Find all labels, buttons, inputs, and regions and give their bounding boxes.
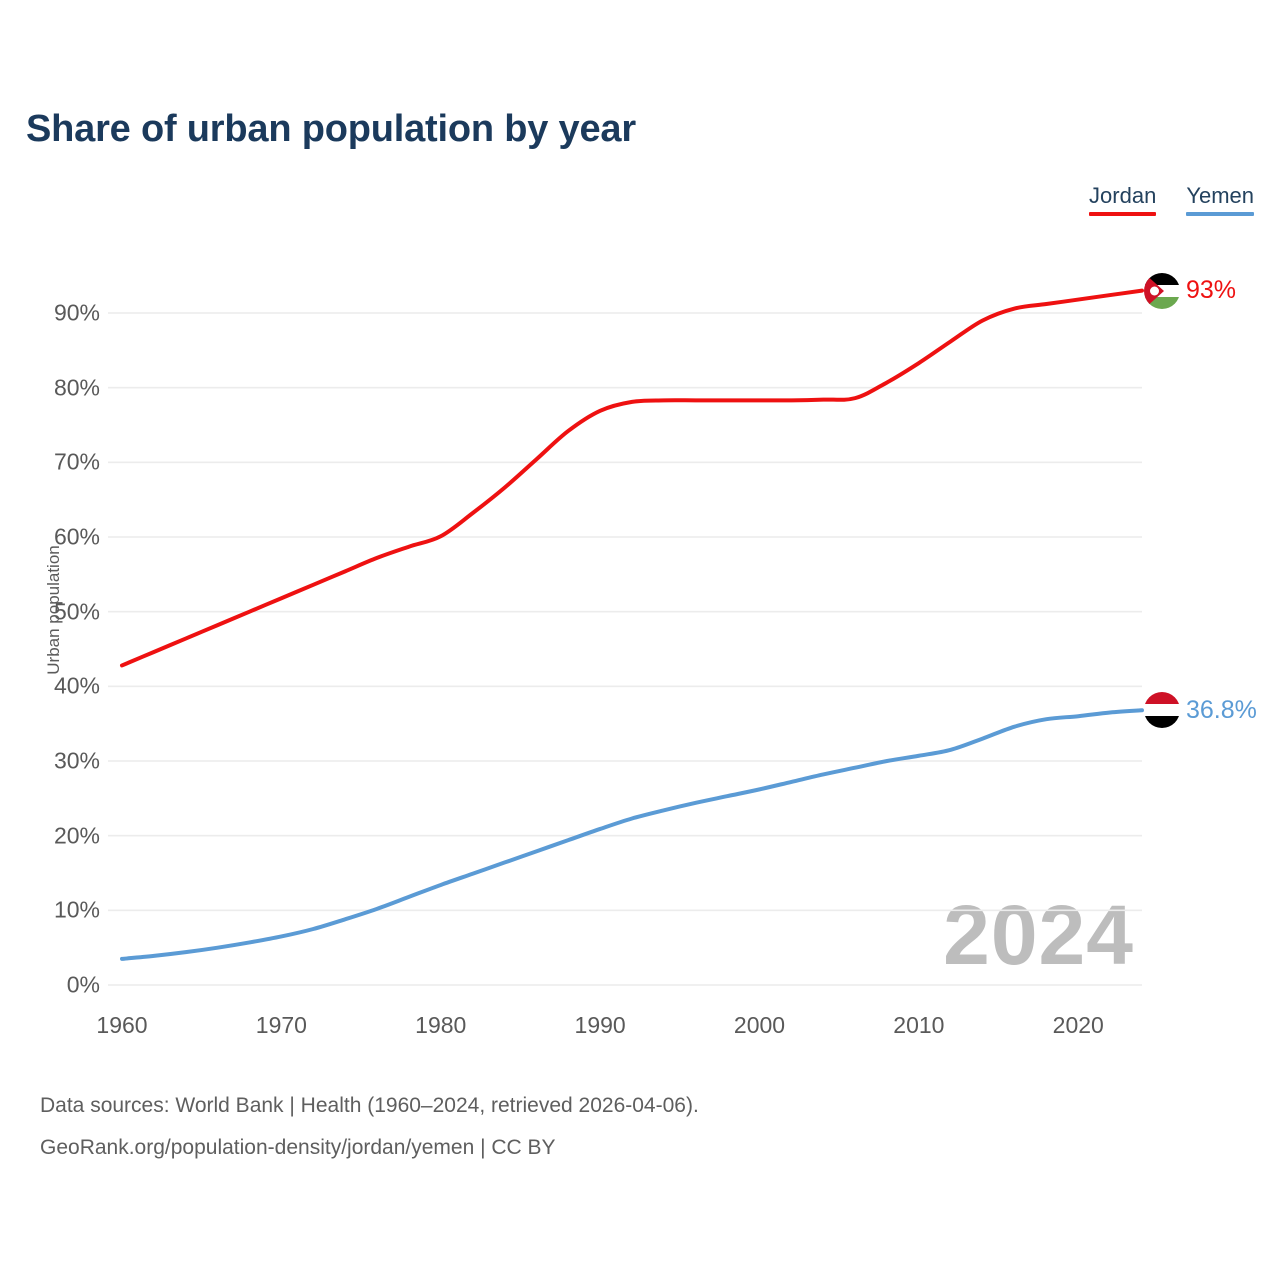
y-axis-tick-label: 30% bbox=[0, 748, 100, 775]
y-axis-tick-label: 50% bbox=[0, 598, 100, 625]
y-axis-tick-label: 10% bbox=[0, 897, 100, 924]
x-axis-tick-label: 1960 bbox=[96, 1012, 147, 1039]
y-axis-tick-label: 90% bbox=[0, 300, 100, 327]
x-axis-tick-label: 1980 bbox=[415, 1012, 466, 1039]
x-axis-tick-label: 2020 bbox=[1053, 1012, 1104, 1039]
gridlines bbox=[108, 313, 1142, 985]
y-axis-tick-label: 80% bbox=[0, 374, 100, 401]
y-axis-tick-label: 40% bbox=[0, 673, 100, 700]
footer-line-2: GeoRank.org/population-density/jordan/ye… bbox=[40, 1127, 699, 1169]
series-line-jordan bbox=[122, 291, 1142, 666]
jordan-endpoint-value: 93% bbox=[1186, 276, 1236, 305]
y-axis-tick-label: 0% bbox=[0, 972, 100, 999]
x-axis-tick-label: 1990 bbox=[575, 1012, 626, 1039]
series-line-yemen bbox=[122, 710, 1142, 959]
footer-sources: Data sources: World Bank | Health (1960–… bbox=[40, 1085, 699, 1169]
series-lines bbox=[122, 291, 1142, 959]
yemen-endpoint-value: 36.8% bbox=[1186, 696, 1257, 725]
jordan-endpoint[interactable]: 93% bbox=[1144, 273, 1236, 309]
x-axis-tick-label: 2000 bbox=[734, 1012, 785, 1039]
y-axis-tick-label: 60% bbox=[0, 524, 100, 551]
jordan-flag-icon bbox=[1144, 273, 1180, 309]
x-axis-tick-label: 1970 bbox=[256, 1012, 307, 1039]
y-axis-tick-label: 20% bbox=[0, 822, 100, 849]
footer-line-1: Data sources: World Bank | Health (1960–… bbox=[40, 1085, 699, 1127]
x-axis-tick-label: 2010 bbox=[893, 1012, 944, 1039]
yemen-endpoint[interactable]: 36.8% bbox=[1144, 692, 1257, 728]
yemen-flag-icon bbox=[1144, 692, 1180, 728]
chart-canvas: Share of urban population by year Jordan… bbox=[0, 0, 1280, 1280]
y-axis-tick-label: 70% bbox=[0, 449, 100, 476]
